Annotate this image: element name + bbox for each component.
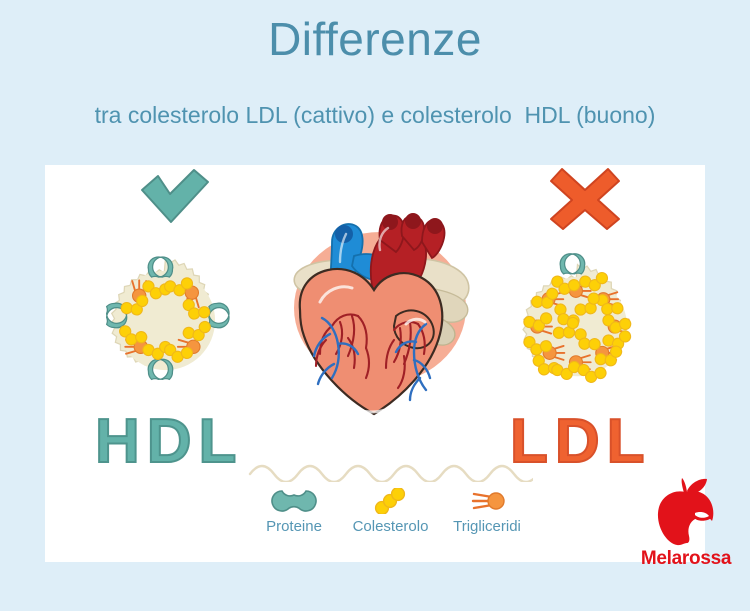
infographic-root: Differenze tra colesterolo LDL (cattivo)… [0, 0, 750, 611]
page-title: Differenze [0, 16, 750, 62]
triglyceride-lollipop-icon [466, 488, 508, 514]
legend: Proteine Colesterolo [248, 460, 533, 555]
legend-label-colesterolo: Colesterolo [353, 519, 429, 534]
legend-item-trigliceridi: Trigliceridi [441, 488, 533, 534]
hdl-lipoprotein-particle [88, 243, 243, 403]
x-mark-icon [549, 167, 621, 236]
brand-name: Melarossa [632, 549, 740, 568]
legend-label-proteine: Proteine [266, 519, 322, 534]
ldl-lipoprotein-particle [500, 246, 655, 406]
hdl-label: HDL [95, 411, 243, 473]
cholesterol-beads-icon [371, 488, 411, 514]
header: Differenze tra colesterolo LDL (cattivo)… [0, 0, 750, 165]
page-subtitle: tra colesterolo LDL (cattivo) e colester… [0, 104, 750, 127]
legend-items: Proteine Colesterolo [248, 488, 533, 534]
legend-label-trigliceridi: Trigliceridi [453, 519, 521, 534]
protein-peanut-icon [270, 488, 318, 514]
legend-item-colesterolo: Colesterolo [345, 488, 437, 534]
red-apple-logo-icon [632, 477, 740, 547]
brand: Melarossa [632, 477, 740, 568]
wavy-divider-icon [248, 460, 533, 487]
check-mark-icon [138, 168, 212, 235]
anatomical-heart-illustration [268, 190, 486, 443]
legend-item-proteine: Proteine [248, 488, 340, 534]
